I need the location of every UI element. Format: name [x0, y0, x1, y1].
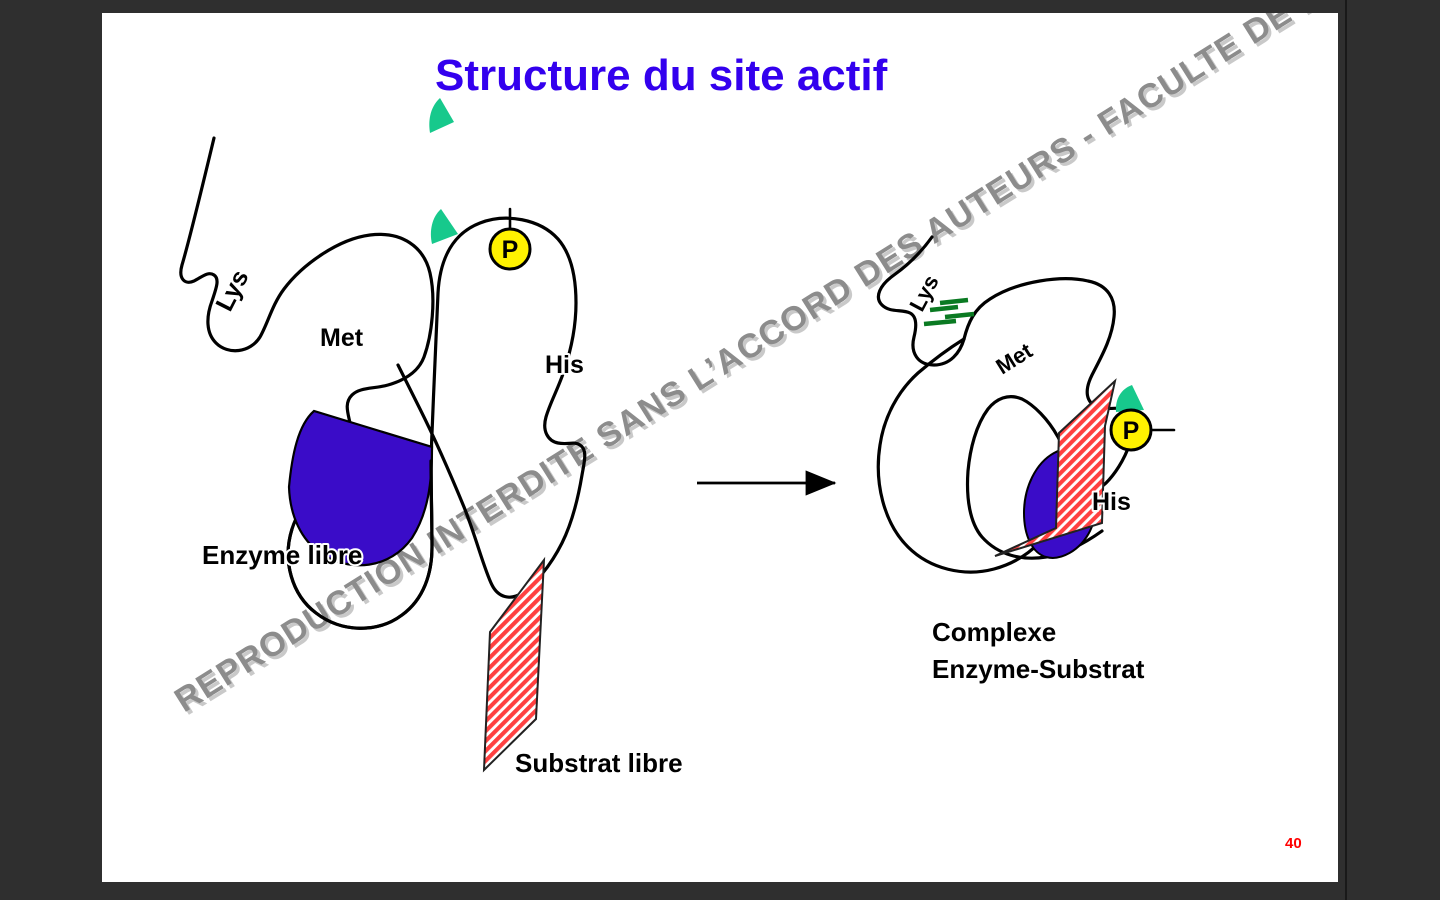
page-number: 40 — [1285, 835, 1302, 852]
caption-complexe-line2: Enzyme-Substrat — [932, 654, 1145, 684]
enzyme-substrate-complex-group: P Lys Met His Complexe Enzyme-Substrat — [878, 237, 1174, 684]
residue-label-met-free: Met — [320, 324, 364, 352]
residue-label-his-complex: His — [1092, 488, 1131, 516]
watermark: REPRODUCTION INTERDITE SANS L’ACCORD DES… — [168, 13, 1338, 723]
teal-triangle-icon — [429, 98, 454, 133]
residue-label-his-free: His — [545, 351, 584, 379]
free-enzyme-group: P Lys Met His Enzyme libre — [181, 98, 585, 628]
viewer-edge-divider — [1345, 0, 1347, 900]
caption-complexe-line1: Complexe — [932, 617, 1056, 647]
complex-lobe-path — [878, 339, 1052, 572]
watermark-text: REPRODUCTION INTERDITE SANS L’ACCORD DES… — [168, 13, 1338, 720]
slide-viewer: Structure du site actif REPRODUCTION INT… — [0, 0, 1440, 900]
residue-label-lys-free: Lys — [210, 265, 254, 315]
free-substrate-group: Substrat libre — [484, 560, 683, 778]
slide-canvas: Structure du site actif REPRODUCTION INT… — [102, 13, 1338, 882]
phosphate-badge-complex-label: P — [1123, 417, 1140, 445]
substrate-shape — [484, 560, 544, 770]
caption-enzyme-libre: Enzyme libre — [202, 540, 362, 570]
caption-substrat-libre: Substrat libre — [515, 748, 683, 778]
teal-triangle-icon-left — [431, 209, 458, 244]
residue-label-met-complex: Met — [991, 338, 1037, 380]
phosphate-badge-label: P — [502, 236, 519, 264]
page-title: Structure du site actif — [435, 51, 888, 100]
teal-triangle-icon-complex — [1116, 385, 1144, 412]
